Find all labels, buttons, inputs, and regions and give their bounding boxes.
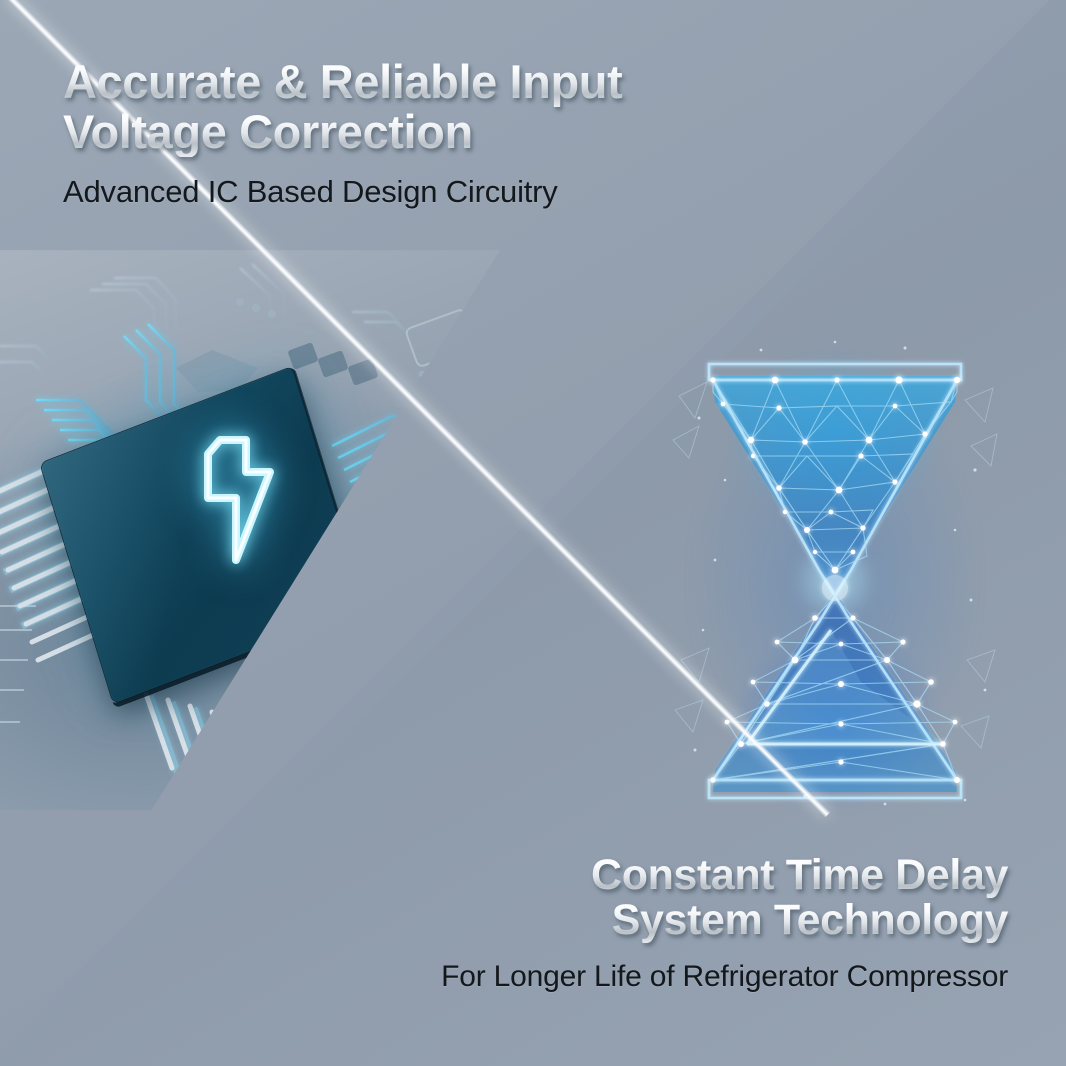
bottom-headline-line1: Constant Time Delay: [308, 853, 1008, 899]
top-left-text-block: Accurate & Reliable Input Voltage Correc…: [63, 57, 683, 210]
top-headline-line1: Accurate & Reliable Input: [63, 57, 683, 107]
bottom-subtitle: For Longer Life of Refrigerator Compress…: [308, 960, 1008, 994]
lightning-bolt-icon: [186, 432, 278, 568]
bottom-right-text-block: Constant Time Delay System Technology Fo…: [308, 853, 1008, 994]
promo-banner: Accurate & Reliable Input Voltage Correc…: [0, 0, 1066, 1066]
low-poly-hourglass-artwork: [655, 330, 1015, 830]
top-subtitle: Advanced IC Based Design Circuitry: [63, 174, 683, 210]
bottom-headline-line2: System Technology: [308, 898, 1008, 944]
hourglass-icon: [655, 330, 1015, 830]
top-headline-line2: Voltage Correction: [63, 107, 683, 157]
